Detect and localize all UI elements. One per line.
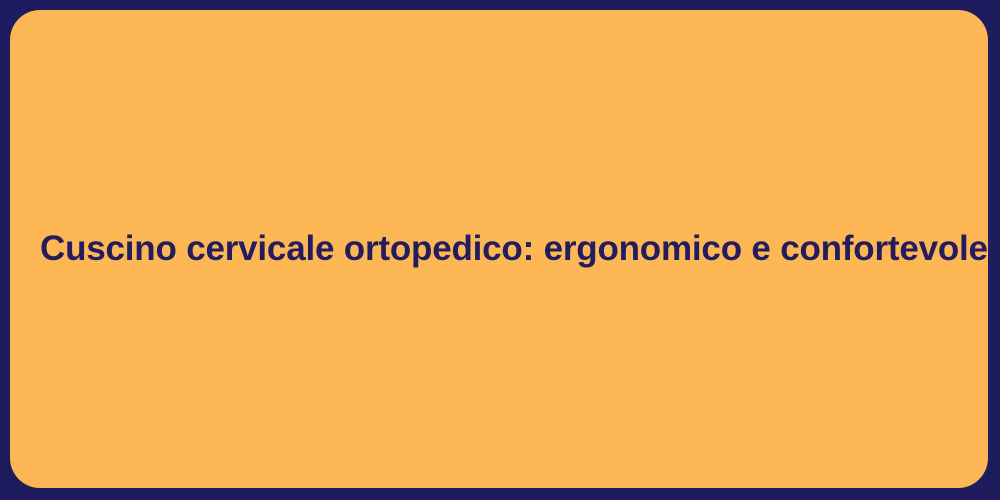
page-title: Cuscino cervicale ortopedico: ergonomico… xyxy=(10,228,988,270)
card-outer-frame: Cuscino cervicale ortopedico: ergonomico… xyxy=(0,0,1000,500)
card-panel: Cuscino cervicale ortopedico: ergonomico… xyxy=(10,10,988,488)
